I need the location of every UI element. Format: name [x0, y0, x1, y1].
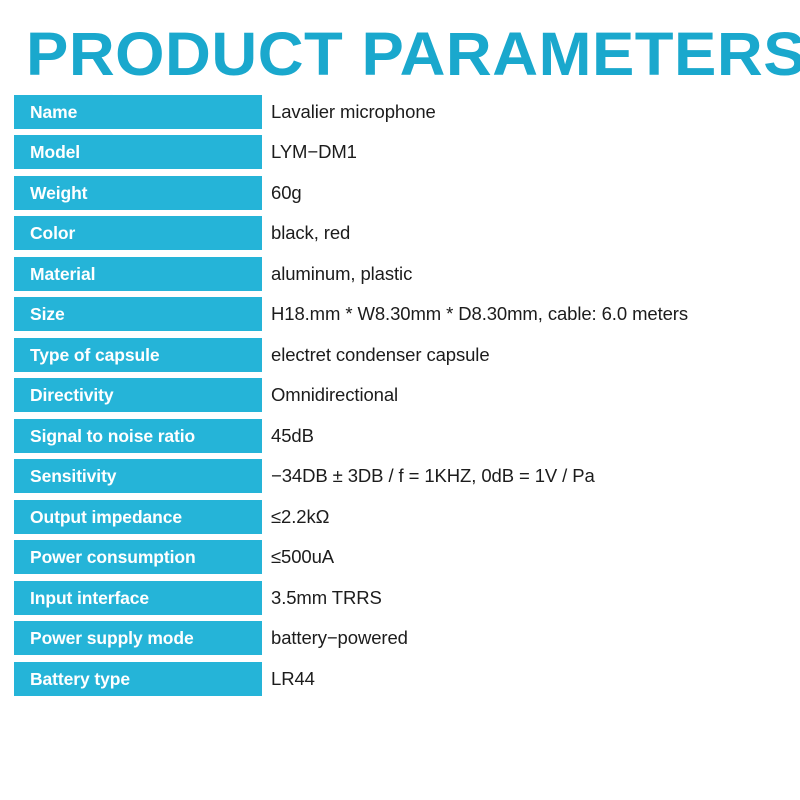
spec-label: Material: [14, 257, 262, 291]
spec-value: battery−powered: [271, 621, 408, 655]
product-parameters-page: PRODUCT PARAMETERS NameLavalier micropho…: [0, 0, 800, 800]
spec-value: H18.mm * W8.30mm * D8.30mm, cable: 6.0 m…: [271, 297, 688, 331]
spec-label: Power supply mode: [14, 621, 262, 655]
spec-value: electret condenser capsule: [271, 338, 490, 372]
spec-value: ≤500uA: [271, 540, 334, 574]
table-row: Output impedance≤2.2kΩ: [0, 500, 800, 540]
table-row: Weight60g: [0, 176, 800, 216]
spec-value: Omnidirectional: [271, 378, 398, 412]
spec-label: Signal to noise ratio: [14, 419, 262, 453]
table-row: DirectivityOmnidirectional: [0, 378, 800, 418]
spec-value: black, red: [271, 216, 350, 250]
spec-value: 60g: [271, 176, 302, 210]
spec-value: 45dB: [271, 419, 314, 453]
table-row: ModelLYM−DM1: [0, 135, 800, 175]
table-row: Input interface3.5mm TRRS: [0, 581, 800, 621]
table-row: SizeH18.mm * W8.30mm * D8.30mm, cable: 6…: [0, 297, 800, 337]
page-title: PRODUCT PARAMETERS: [26, 24, 800, 84]
spec-label: Battery type: [14, 662, 262, 696]
spec-label: Type of capsule: [14, 338, 262, 372]
table-row: Sensitivity−34DB ± 3DB / f = 1KHZ, 0dB =…: [0, 459, 800, 499]
table-row: NameLavalier microphone: [0, 95, 800, 135]
spec-label: Output impedance: [14, 500, 262, 534]
spec-label: Size: [14, 297, 262, 331]
table-row: Power consumption≤500uA: [0, 540, 800, 580]
spec-value: 3.5mm TRRS: [271, 581, 382, 615]
table-row: Signal to noise ratio45dB: [0, 419, 800, 459]
table-row: Power supply modebattery−powered: [0, 621, 800, 661]
spec-label: Sensitivity: [14, 459, 262, 493]
spec-label: Name: [14, 95, 262, 129]
spec-label: Color: [14, 216, 262, 250]
table-row: Colorblack, red: [0, 216, 800, 256]
spec-label: Model: [14, 135, 262, 169]
table-row: Battery typeLR44: [0, 662, 800, 702]
spec-value: −34DB ± 3DB / f = 1KHZ, 0dB = 1V / Pa: [271, 459, 595, 493]
spec-label: Weight: [14, 176, 262, 210]
spec-value: LR44: [271, 662, 315, 696]
specifications-table: NameLavalier microphoneModelLYM−DM1Weigh…: [0, 95, 800, 702]
spec-label: Power consumption: [14, 540, 262, 574]
spec-value: ≤2.2kΩ: [271, 500, 329, 534]
table-row: Type of capsuleelectret condenser capsul…: [0, 338, 800, 378]
spec-value: Lavalier microphone: [271, 95, 436, 129]
table-row: Materialaluminum, plastic: [0, 257, 800, 297]
spec-value: LYM−DM1: [271, 135, 357, 169]
spec-label: Input interface: [14, 581, 262, 615]
spec-label: Directivity: [14, 378, 262, 412]
spec-value: aluminum, plastic: [271, 257, 412, 291]
